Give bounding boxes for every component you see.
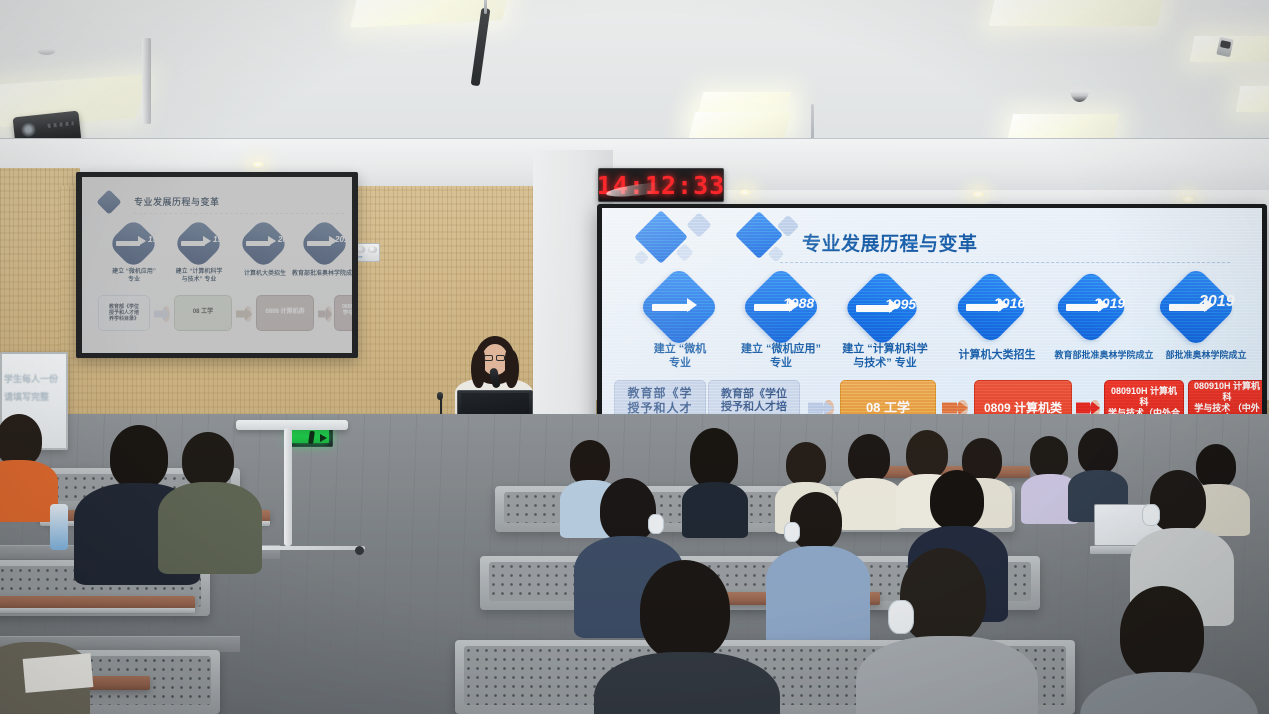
timeline-label: 建立 “微机 专业 <box>628 343 732 371</box>
student-head <box>1196 444 1236 488</box>
node-arrow-bar <box>652 304 690 311</box>
diamond-icon <box>686 212 711 237</box>
node-arrow-head <box>203 236 211 246</box>
timeline-label: 建立 “微机应用” 专业 <box>728 343 834 371</box>
whiteboard-text: 请填写完整 <box>4 390 49 403</box>
student-head <box>848 434 890 482</box>
student-head <box>640 560 730 660</box>
timeline-label: 建立 “计算机科学 与技术” 专业 <box>160 269 238 284</box>
downlight <box>250 160 266 169</box>
speaker-hair-side <box>505 350 519 388</box>
student-torso <box>766 546 870 646</box>
exit-arrow-icon <box>320 434 327 442</box>
mobile-stand-tabletop <box>236 420 348 430</box>
timeline-label: 建立 “计算机科学 与技术” 专业 <box>830 343 940 371</box>
diamond-icon <box>118 187 129 198</box>
dome-camera <box>1070 90 1089 102</box>
student-head <box>900 548 986 644</box>
student-head <box>790 492 842 550</box>
student-head <box>786 442 826 486</box>
chain-chip: 080910H 计算机科 学与技术（中外合 作办学） <box>334 295 352 331</box>
node-arrow-head <box>268 236 276 246</box>
student-head <box>1030 436 1068 478</box>
lecture-hall-photo: EXIT 专业发展历程与变革 1988 建立 “微机应用” 专业 1995 <box>0 0 1269 714</box>
timeline-label: 教育部批准奥林学院成立 <box>287 271 352 279</box>
downlight <box>970 190 986 199</box>
timeline-year: 1995 <box>213 235 231 244</box>
timeline-year: 2019 <box>1199 293 1235 311</box>
timeline-year: 2016 <box>278 235 296 244</box>
timeline-year: 1995 <box>885 296 916 312</box>
downlight <box>737 188 753 197</box>
timeline-year: 1988 <box>148 235 166 244</box>
paper-sheet <box>23 653 94 693</box>
led-wall-clock: 14:12:33 <box>598 168 724 202</box>
timeline-label: 部批准奥林学院成立 <box>1142 350 1262 361</box>
chain-arrow <box>154 307 170 321</box>
student-head <box>1078 428 1118 474</box>
timeline-year: 2019 <box>335 235 352 244</box>
student-head <box>600 478 656 542</box>
speaker-hair-side <box>471 350 485 388</box>
node-arrow-bar <box>307 241 331 246</box>
chain-arrow <box>236 307 252 321</box>
mobile-stand-column <box>284 428 292 546</box>
projection-screen-surface: 专业发展历程与变革 1988 建立 “微机应用” 专业 1995 建立 “计算机… <box>82 177 352 353</box>
chain-arrow <box>318 307 332 321</box>
student-head <box>0 414 42 466</box>
smoke-detector <box>38 48 55 55</box>
face-mask <box>784 522 800 542</box>
student-torso <box>838 478 902 530</box>
ceiling-light-panel <box>1236 86 1269 112</box>
left-slide: 专业发展历程与变革 1988 建立 “微机应用” 专业 1995 建立 “计算机… <box>82 177 352 353</box>
student-head <box>1120 586 1204 680</box>
student-torso <box>856 636 1038 714</box>
running-person-icon <box>308 431 315 445</box>
timeline-year: 2016 <box>994 295 1025 311</box>
node-arrow-head <box>687 298 697 312</box>
glasses-icon <box>484 355 493 361</box>
title-divider <box>134 213 344 214</box>
node-arrow-bar <box>116 241 140 246</box>
left-slide-title: 专业发展历程与变革 <box>134 195 220 208</box>
hanging-cable <box>484 0 487 14</box>
face-mask <box>1142 504 1160 526</box>
node-arrow-bar <box>246 241 270 246</box>
student-head <box>930 470 984 530</box>
gooseneck-mic-head <box>437 392 443 400</box>
student-head <box>182 432 234 488</box>
face-mask <box>648 514 664 534</box>
laptop-screen <box>461 393 529 416</box>
face-mask <box>888 600 914 634</box>
title-divider <box>780 262 1230 263</box>
ceiling-light-panel <box>989 0 1164 26</box>
student-torso <box>158 482 262 574</box>
water-bottle <box>50 504 68 550</box>
timeline-label: 计算机大类招生 <box>942 349 1052 363</box>
downlight <box>1180 195 1196 204</box>
whiteboard-text: 学生每人一份 <box>4 372 58 385</box>
chain-chip: 教育部《学位 授予和人才培 养学科目录》 <box>98 295 150 331</box>
timeline-year: 2019 <box>1094 295 1125 311</box>
mobile-stand-caster <box>355 546 364 555</box>
desk-row-left-mid <box>0 596 195 609</box>
student-head <box>690 428 738 488</box>
chain-chip: 0809 计算机类 <box>256 295 314 331</box>
desk-edge <box>0 608 195 613</box>
ceiling-light-panel <box>689 112 791 138</box>
timeline-year: 1988 <box>783 295 814 311</box>
projector-mount-pole <box>142 38 151 124</box>
student-torso <box>682 482 748 538</box>
student-head <box>110 425 168 489</box>
diamond-icon <box>768 246 785 263</box>
node-arrow-bar <box>181 241 205 246</box>
diamond-icon <box>634 250 650 266</box>
exit-sign-face <box>291 429 329 443</box>
node-arrow-head <box>138 236 146 246</box>
diamond-icon <box>96 189 121 214</box>
projection-screen: 专业发展历程与变革 1988 建立 “微机应用” 专业 1995 建立 “计算机… <box>76 172 358 358</box>
glasses-icon <box>496 355 505 361</box>
slide-title: 专业发展历程与变革 <box>802 229 978 256</box>
student-head <box>906 430 948 478</box>
chain-chip: 08 工学 <box>174 295 232 331</box>
